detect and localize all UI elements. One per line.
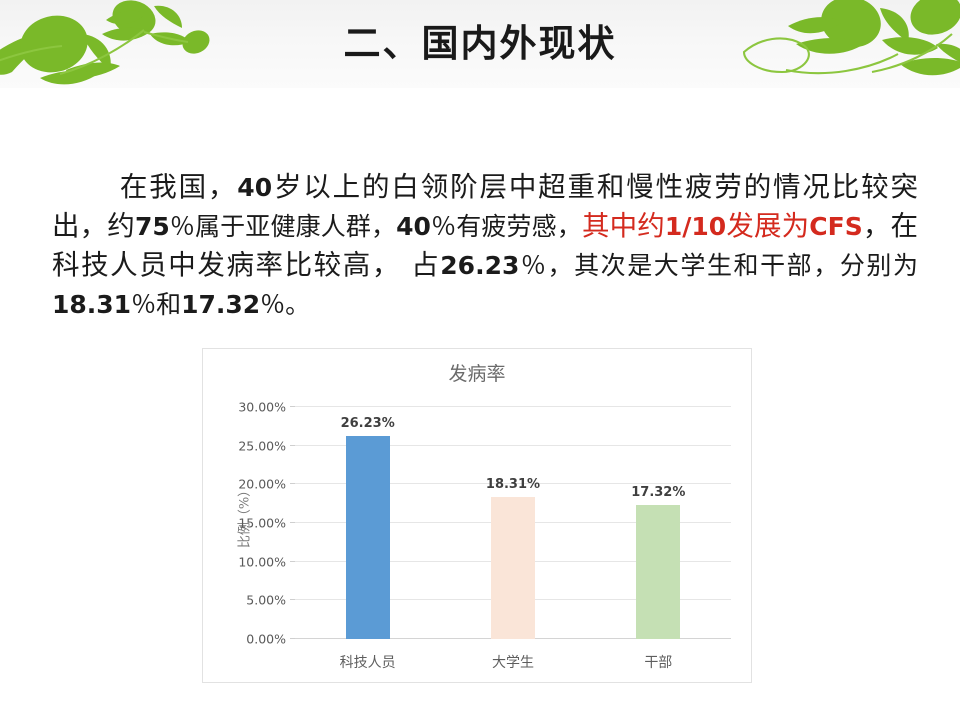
- bar[interactable]: [491, 497, 535, 639]
- bar[interactable]: [636, 505, 680, 639]
- y-axis-tick-label: 15.00%: [238, 516, 286, 531]
- text-segment-13: ％，其次是大学生和干部，分别为: [519, 251, 918, 280]
- text-segment-15: ％和: [131, 290, 181, 319]
- x-axis-category-label: 干部: [644, 652, 672, 672]
- text-segment-17: ％。: [260, 290, 310, 319]
- text-segment-14: 18.31: [52, 290, 131, 319]
- text-segment-8: 1/10: [665, 212, 726, 241]
- text-segment-4: ％属于亚健康人群，: [170, 212, 396, 241]
- x-axis-category-label: 大学生: [492, 652, 534, 672]
- x-axis-category-label: 科技人员: [340, 652, 396, 672]
- bar-value-label: 18.31%: [486, 477, 540, 492]
- text-segment-7: 其中约: [582, 210, 665, 242]
- bar-group: 26.23%科技人员: [295, 407, 440, 639]
- text-segment-12: 26.23: [440, 251, 519, 280]
- chart-plot-area: 0.00%5.00%10.00%15.00%20.00%25.00%30.00%…: [295, 407, 731, 639]
- bar-value-label: 26.23%: [341, 416, 395, 431]
- text-segment-3: 75: [135, 212, 170, 241]
- slide-header: 二、国内外现状: [0, 0, 960, 88]
- text-segment-10: CFS: [809, 212, 862, 241]
- chart-title: 发病率: [203, 359, 751, 386]
- y-axis-tick-label: 0.00%: [246, 632, 286, 647]
- y-axis-tick-label: 5.00%: [246, 593, 286, 608]
- bar-group: 18.31%大学生: [440, 407, 585, 639]
- chart-container[interactable]: 发病率 比例（%） 0.00%5.00%10.00%15.00%20.00%25…: [202, 348, 752, 683]
- bar-value-label: 17.32%: [631, 485, 685, 500]
- page-title: 二、国内外现状: [0, 0, 960, 88]
- y-axis-tick-label: 25.00%: [238, 438, 286, 453]
- text-segment-9: 发展为: [726, 210, 809, 242]
- y-axis-tick-label: 10.00%: [238, 554, 286, 569]
- text-segment-6: ％有疲劳感，: [431, 212, 582, 241]
- text-segment-5: 40: [396, 212, 431, 241]
- y-axis-tick-label: 20.00%: [238, 477, 286, 492]
- body-paragraph: 在我国，40岁以上的白领阶层中超重和慢性疲劳的情况比较突出，约75％属于亚健康人…: [52, 168, 918, 324]
- text-segment-1: 40: [237, 173, 272, 202]
- bar[interactable]: [346, 436, 390, 639]
- chart-bars: 26.23%科技人员18.31%大学生17.32%干部: [295, 407, 731, 639]
- text-segment-16: 17.32: [181, 290, 260, 319]
- text-segment-0: 在我国，: [118, 171, 237, 203]
- y-axis-tick-label: 30.00%: [238, 400, 286, 415]
- bar-group: 17.32%干部: [586, 407, 731, 639]
